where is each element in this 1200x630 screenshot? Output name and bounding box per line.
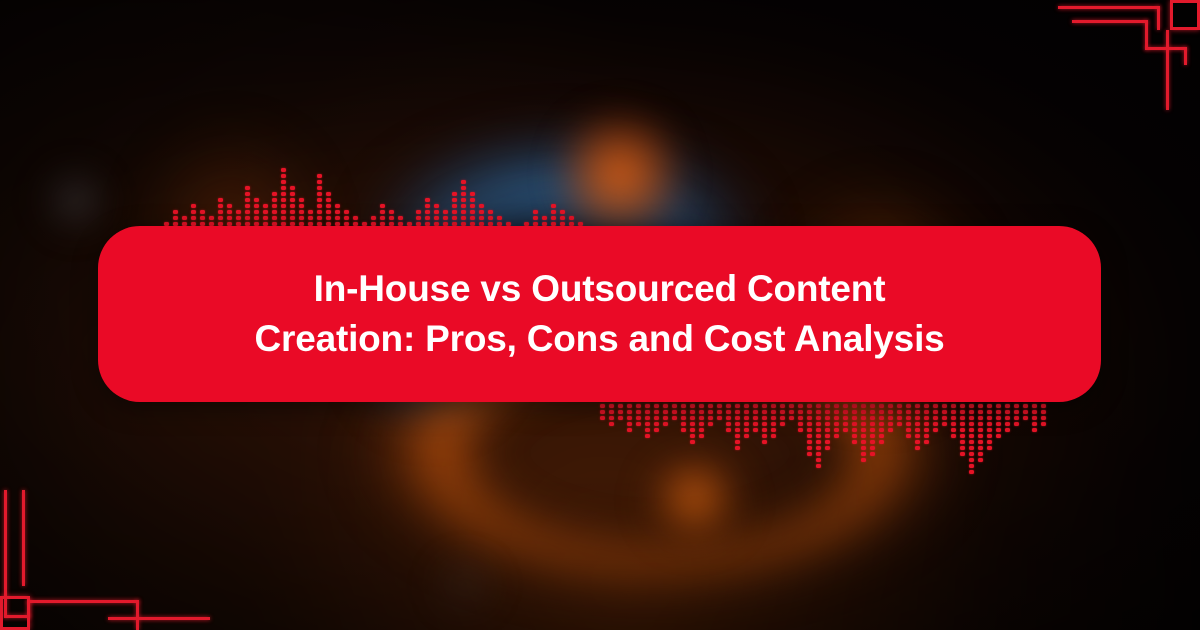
waveform-segment [281,198,286,202]
waveform-segment [497,216,502,220]
waveform-segment [852,404,857,408]
waveform-segment [717,410,722,414]
waveform-segment [780,416,785,420]
waveform-segment [326,192,331,196]
waveform-bar [816,404,821,470]
waveform-segment [996,404,1001,408]
waveform-segment [272,198,277,202]
waveform-segment [290,186,295,190]
waveform-segment [425,204,430,208]
waveform-segment [870,422,875,426]
waveform-segment [609,422,614,426]
waveform-segment [326,198,331,202]
waveform-segment [780,410,785,414]
waveform-segment [627,428,632,432]
waveform-bottom [600,404,1050,476]
waveform-segment [924,434,929,438]
waveform-segment [744,428,749,432]
waveform-segment [425,216,430,220]
waveform-segment [627,422,632,426]
waveform-segment [281,216,286,220]
waveform-segment [969,422,974,426]
waveform-segment [888,404,893,408]
waveform-segment [452,210,457,214]
waveform-bar [717,404,722,422]
waveform-segment [1023,416,1028,420]
waveform-segment [798,404,803,408]
waveform-segment [690,410,695,414]
waveform-segment [699,404,704,408]
waveform-segment [627,416,632,420]
waveform-segment [416,216,421,220]
waveform-bar [735,404,740,452]
waveform-bar [609,404,614,428]
waveform-bar [942,404,947,428]
waveform-segment [816,464,821,468]
waveform-segment [816,434,821,438]
waveform-segment [870,440,875,444]
waveform-segment [443,216,448,220]
waveform-segment [771,410,776,414]
waveform-segment [798,416,803,420]
waveform-segment [173,216,178,220]
waveform-segment [879,434,884,438]
waveform-segment [969,470,974,474]
waveform-segment [771,434,776,438]
waveform-segment [951,428,956,432]
waveform-segment [317,180,322,184]
waveform-segment [807,440,812,444]
waveform-segment [299,216,304,220]
waveform-segment [272,192,277,196]
waveform-bar [1032,404,1037,434]
waveform-segment [281,204,286,208]
waveform-segment [371,216,376,220]
waveform-segment [272,216,277,220]
waveform-segment [1032,428,1037,432]
waveform-segment [227,210,232,214]
waveform-segment [1014,422,1019,426]
waveform-segment [744,422,749,426]
waveform-segment [551,216,556,220]
waveform-segment [969,434,974,438]
waveform-segment [987,416,992,420]
waveform-bar [1005,404,1010,434]
waveform-segment [978,428,983,432]
waveform-segment [762,416,767,420]
waveform-segment [924,404,929,408]
waveform-segment [996,422,1001,426]
waveform-bar [1041,404,1046,428]
waveform-segment [717,416,722,420]
waveform-segment [1014,416,1019,420]
waveform-segment [290,216,295,220]
waveform-segment [978,452,983,456]
waveform-bar [798,404,803,434]
waveform-bar [888,404,893,434]
waveform-segment [834,434,839,438]
waveform-segment [834,410,839,414]
waveform-segment [753,404,758,408]
waveform-segment [380,204,385,208]
waveform-segment [924,440,929,444]
waveform-segment [978,404,983,408]
waveform-bar [924,404,929,446]
waveform-segment [735,410,740,414]
waveform-segment [200,216,205,220]
waveform-segment [960,440,965,444]
waveform-segment [861,434,866,438]
waveform-segment [380,216,385,220]
waveform-segment [560,210,565,214]
waveform-segment [879,422,884,426]
waveform-segment [690,404,695,408]
waveform-segment [870,404,875,408]
waveform-segment [308,210,313,214]
waveform-segment [816,458,821,462]
waveform-segment [843,410,848,414]
waveform-segment [461,210,466,214]
waveform-segment [461,180,466,184]
waveform-segment [173,210,178,214]
waveform-segment [744,404,749,408]
waveform-segment [870,416,875,420]
waveform-segment [888,422,893,426]
waveform-segment [780,422,785,426]
waveform-bar [879,404,884,446]
waveform-segment [1041,404,1046,408]
waveform-segment [726,404,731,408]
waveform-segment [645,410,650,414]
waveform-segment [888,416,893,420]
waveform-segment [663,410,668,414]
waveform-segment [645,404,650,408]
waveform-segment [951,410,956,414]
waveform-segment [816,446,821,450]
waveform-segment [951,416,956,420]
waveform-segment [654,404,659,408]
waveform-segment [969,428,974,432]
waveform-segment [771,416,776,420]
waveform-segment [663,404,668,408]
waveform-segment [825,416,830,420]
waveform-segment [942,410,947,414]
waveform-segment [807,416,812,420]
waveform-segment [263,216,268,220]
waveform-segment [335,210,340,214]
waveform-bar [708,404,713,428]
waveform-segment [263,210,268,214]
waveform-segment [834,416,839,420]
waveform-segment [245,204,250,208]
waveform-segment [627,404,632,408]
waveform-segment [461,198,466,202]
waveform-segment [906,434,911,438]
waveform-bar [1023,404,1028,422]
waveform-segment [762,404,767,408]
waveform-bar [960,404,965,458]
waveform-segment [672,404,677,408]
waveform-segment [209,216,214,220]
waveform-segment [281,174,286,178]
waveform-segment [843,428,848,432]
waveform-segment [762,410,767,414]
waveform-segment [771,428,776,432]
waveform-segment [609,416,614,420]
waveform-segment [933,422,938,426]
waveform-bar [825,404,830,452]
waveform-segment [281,192,286,196]
waveform-segment [852,440,857,444]
waveform-segment [317,210,322,214]
waveform-segment [317,186,322,190]
waveform-segment [488,216,493,220]
waveform-segment [861,452,866,456]
waveform-segment [245,210,250,214]
waveform-segment [645,416,650,420]
waveform-segment [807,452,812,456]
waveform-segment [798,410,803,414]
waveform-segment [654,428,659,432]
waveform-segment [816,410,821,414]
waveform-segment [299,210,304,214]
waveform-segment [735,434,740,438]
waveform-bar [636,404,641,428]
waveform-segment [951,422,956,426]
waveform-segment [488,210,493,214]
page-title: In-House vs Outsourced Content Creation:… [220,264,980,364]
waveform-bar [834,404,839,440]
waveform-segment [1005,428,1010,432]
waveform-segment [1023,410,1028,414]
waveform-segment [807,434,812,438]
waveform-segment [843,404,848,408]
waveform-bar [753,404,758,434]
waveform-segment [1032,410,1037,414]
waveform-segment [825,440,830,444]
waveform-segment [888,428,893,432]
waveform-segment [825,434,830,438]
waveform-segment [443,210,448,214]
waveform-segment [879,416,884,420]
waveform-segment [1023,404,1028,408]
waveform-segment [1032,422,1037,426]
waveform-segment [906,428,911,432]
waveform-segment [951,434,956,438]
waveform-segment [987,440,992,444]
waveform-segment [182,216,187,220]
waveform-segment [290,204,295,208]
waveform-segment [834,404,839,408]
waveform-segment [807,410,812,414]
waveform-segment [708,404,713,408]
waveform-segment [960,404,965,408]
waveform-segment [915,440,920,444]
waveform-segment [762,440,767,444]
waveform-segment [897,416,902,420]
waveform-segment [987,404,992,408]
waveform-segment [969,440,974,444]
waveform-segment [798,422,803,426]
waveform-segment [969,446,974,450]
waveform-segment [281,168,286,172]
waveform-segment [789,416,794,420]
waveform-segment [915,428,920,432]
waveform-segment [987,410,992,414]
waveform-segment [843,422,848,426]
waveform-segment [245,198,250,202]
waveform-segment [969,404,974,408]
waveform-bar [672,404,677,422]
waveform-segment [672,416,677,420]
waveform-segment [236,216,241,220]
waveform-segment [1041,416,1046,420]
waveform-segment [551,204,556,208]
waveform-segment [470,210,475,214]
waveform-segment [263,204,268,208]
waveform-segment [254,210,259,214]
waveform-segment [816,416,821,420]
waveform-segment [245,186,250,190]
waveform-segment [870,434,875,438]
waveform-segment [987,422,992,426]
waveform-segment [924,428,929,432]
waveform-segment [335,216,340,220]
waveform-segment [434,210,439,214]
waveform-segment [915,446,920,450]
waveform-segment [281,210,286,214]
waveform-segment [470,204,475,208]
waveform-segment [825,446,830,450]
waveform-segment [1041,410,1046,414]
waveform-segment [969,416,974,420]
waveform-segment [461,192,466,196]
waveform-segment [533,216,538,220]
waveform-segment [569,216,574,220]
waveform-segment [969,410,974,414]
waveform-segment [717,404,722,408]
waveform-segment [609,404,614,408]
waveform-segment [245,192,250,196]
waveform-segment [461,204,466,208]
waveform-segment [861,404,866,408]
waveform-segment [281,180,286,184]
waveform-segment [636,404,641,408]
waveform-segment [951,404,956,408]
waveform-bar [969,404,974,476]
waveform-segment [789,404,794,408]
waveform-segment [191,210,196,214]
waveform-bar [987,404,992,452]
waveform-segment [398,216,403,220]
waveform-segment [663,422,668,426]
waveform-segment [825,422,830,426]
waveform-segment [735,428,740,432]
waveform-segment [452,204,457,208]
waveform-segment [461,186,466,190]
waveform-segment [600,404,605,408]
waveform-segment [726,416,731,420]
cover-canvas: In-House vs Outsourced Content Creation:… [0,0,1200,630]
waveform-bar [870,404,875,458]
waveform-segment [969,452,974,456]
waveform-segment [735,416,740,420]
waveform-segment [470,198,475,202]
waveform-segment [771,422,776,426]
waveform-segment [744,410,749,414]
waveform-bar [915,404,920,452]
waveform-segment [852,422,857,426]
waveform-bar [663,404,668,428]
waveform-segment [933,404,938,408]
waveform-segment [825,410,830,414]
waveform-bar [978,404,983,464]
waveform-segment [735,440,740,444]
waveform-bar [807,404,812,458]
waveform-bar [861,404,866,464]
waveform-bar [627,404,632,434]
waveform-segment [735,422,740,426]
waveform-segment [915,434,920,438]
waveform-segment [317,204,322,208]
waveform-segment [870,452,875,456]
waveform-segment [380,210,385,214]
waveform-segment [290,210,295,214]
waveform-bar [933,404,938,434]
waveform-segment [636,410,641,414]
waveform-segment [551,210,556,214]
waveform-segment [735,404,740,408]
waveform-segment [636,416,641,420]
waveform-segment [816,452,821,456]
waveform-segment [816,440,821,444]
waveform-segment [308,216,313,220]
waveform-segment [879,410,884,414]
waveform-segment [978,458,983,462]
waveform-bar [618,404,623,422]
waveform-segment [753,428,758,432]
waveform-segment [290,198,295,202]
waveform-segment [618,416,623,420]
waveform-segment [762,428,767,432]
waveform-segment [978,422,983,426]
waveform-segment [654,416,659,420]
waveform-segment [681,410,686,414]
waveform-segment [807,404,812,408]
waveform-segment [533,210,538,214]
waveform-segment [699,416,704,420]
waveform-segment [960,410,965,414]
waveform-segment [335,204,340,208]
waveform-bar [762,404,767,446]
waveform-segment [479,210,484,214]
waveform-bar [690,404,695,446]
waveform-segment [218,210,223,214]
waveform-segment [690,434,695,438]
waveform-segment [915,422,920,426]
waveform-segment [906,422,911,426]
waveform-segment [654,422,659,426]
waveform-bar [744,404,749,440]
waveform-segment [1005,410,1010,414]
waveform-segment [807,428,812,432]
waveform-segment [245,216,250,220]
waveform-segment [254,204,259,208]
waveform-segment [452,216,457,220]
waveform-segment [416,210,421,214]
waveform-segment [753,416,758,420]
waveform-segment [344,216,349,220]
